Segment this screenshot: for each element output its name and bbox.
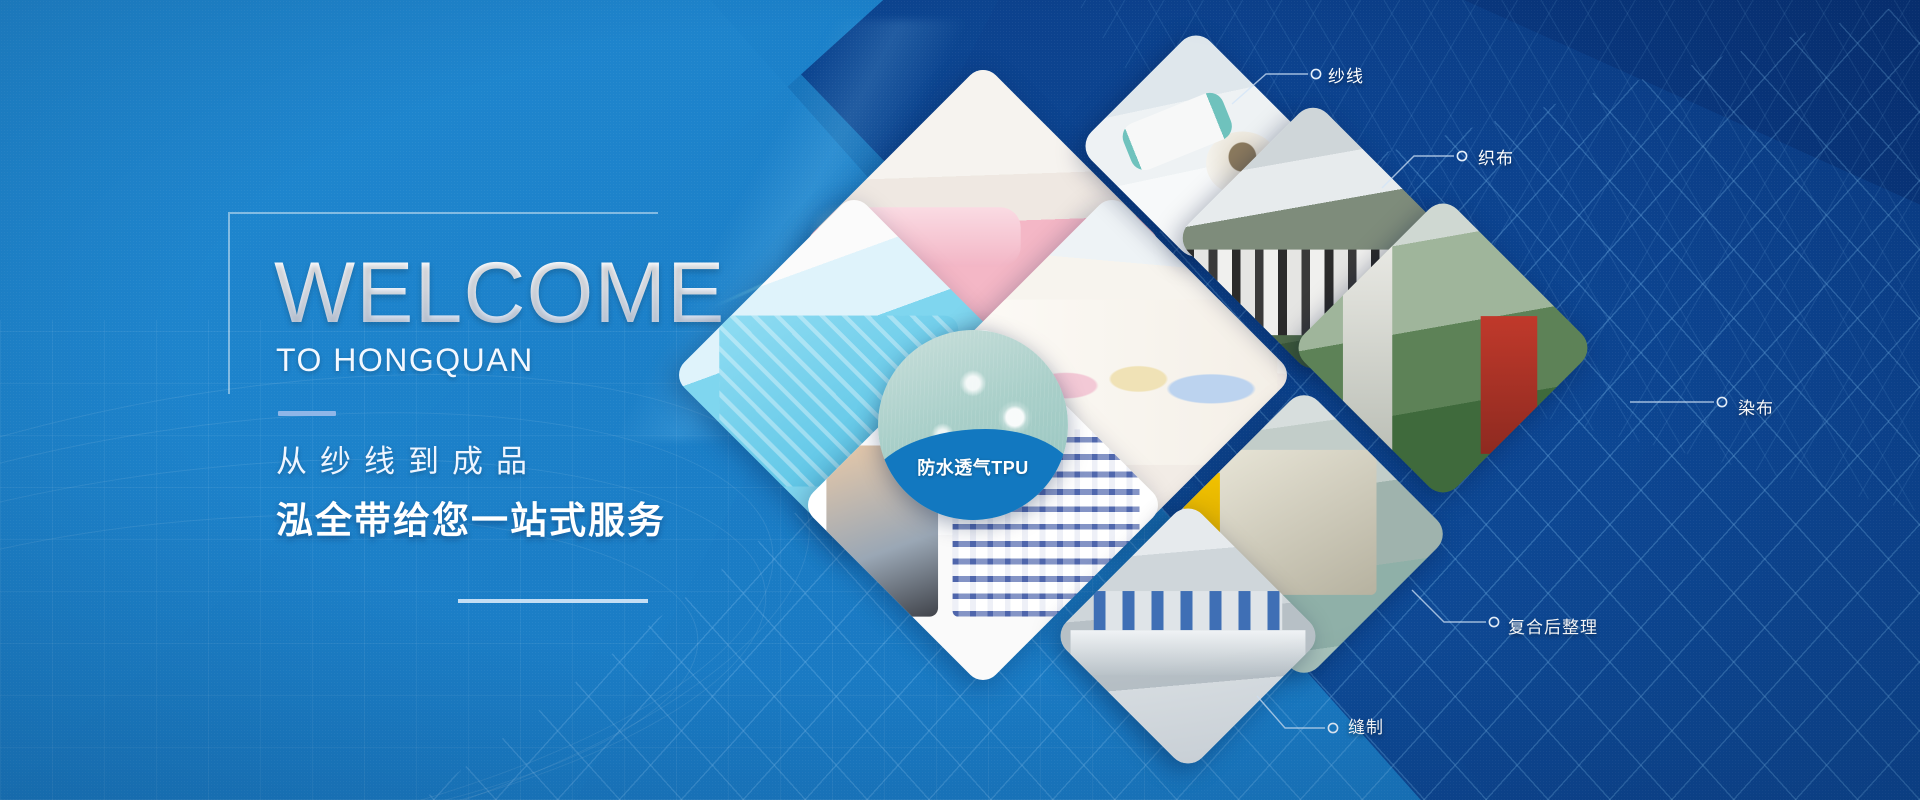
divider-short <box>278 411 336 416</box>
tagline-secondary: 泓全带给您一站式服务 <box>276 497 666 545</box>
process-label-sewing: 缝制 <box>1348 713 1384 738</box>
tpu-feature-badge[interactable]: 防水透气TPU <box>878 330 1068 520</box>
hero-banner: WELCOME TO HONGQUAN 从纱线到成品 泓全带给您一站式服务 防水… <box>0 0 1920 800</box>
headline-block: WELCOME TO HONGQUAN 从纱线到成品 泓全带给您一站式服务 <box>0 0 760 800</box>
divider-long <box>458 599 648 603</box>
badge-label: 防水透气TPU <box>878 454 1068 480</box>
process-label-lamination: 复合后整理 <box>1508 613 1598 638</box>
page-subtitle: TO HONGQUAN <box>276 344 534 376</box>
process-label-yarn: 纱线 <box>1328 62 1364 87</box>
process-label-dyeing: 染布 <box>1738 394 1774 419</box>
page-title: WELCOME <box>274 250 725 336</box>
tagline-primary: 从纱线到成品 <box>276 443 540 481</box>
process-label-weaving: 织布 <box>1478 144 1514 169</box>
